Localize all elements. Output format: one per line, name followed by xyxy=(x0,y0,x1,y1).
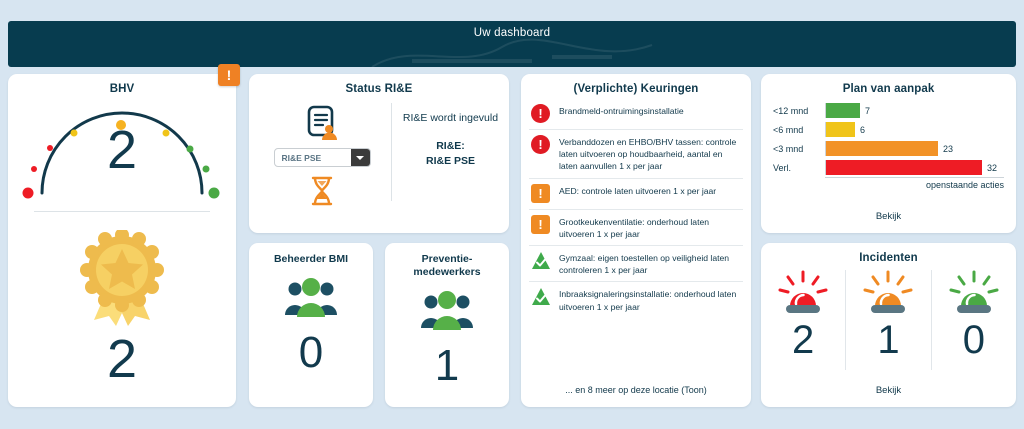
chart-bar-value: 32 xyxy=(987,163,997,173)
incidenten-bekijk-link[interactable]: Bekijk xyxy=(761,385,1016,396)
incident-count: 1 xyxy=(877,320,899,360)
bhv-gauge: 2 xyxy=(8,97,236,205)
document-person-icon xyxy=(302,103,342,143)
chart-bar xyxy=(826,103,860,118)
card-incidenten[interactable]: Incidenten 210 Bekijk xyxy=(761,243,1016,407)
people-group-icon xyxy=(283,277,339,319)
chart-bar-value: 7 xyxy=(865,106,870,116)
chart-bar-cell: 6 xyxy=(825,122,1004,137)
rie-detail-label: RI&E: xyxy=(402,139,499,154)
preventie-value: 1 xyxy=(385,344,509,388)
chart-bar xyxy=(826,122,855,137)
keuring-label: Grootkeukenventilatie: onderhoud laten u… xyxy=(559,215,743,240)
chart-bar-cell: 23 xyxy=(825,141,1004,156)
siren-orange-icon xyxy=(859,270,917,316)
chart-category-label: <12 mnd xyxy=(773,103,825,118)
card-keuringen[interactable]: (Verplichte) Keuringen !Brandmeld-ontrui… xyxy=(521,74,751,407)
alert-circle-icon: ! xyxy=(531,104,550,123)
chart-category-label: <3 mnd xyxy=(773,141,825,156)
card-incidenten-title: Incidenten xyxy=(761,243,1016,264)
keuring-row[interactable]: Gymzaal: eigen toestellen op veiligheid … xyxy=(529,245,743,281)
card-status-rie[interactable]: Status RI&E RI&E PSE xyxy=(249,74,509,233)
chart-xlabel: openstaande acties xyxy=(773,178,1004,190)
header-watermark-graphic xyxy=(352,37,672,67)
bhv-badge-value: 2 xyxy=(8,332,236,386)
card-beheerder-bmi[interactable]: Beheerder BMI 0 xyxy=(249,243,373,407)
keuring-row[interactable]: !Verbanddozen en EHBO/BHV tassen: contro… xyxy=(529,129,743,178)
card-keuringen-title: (Verplichte) Keuringen xyxy=(521,74,751,95)
card-bhv-title: BHV xyxy=(8,74,236,95)
incident-count: 0 xyxy=(963,320,985,360)
keuring-row[interactable]: !AED: controle laten uitvoeren 1 x per j… xyxy=(529,178,743,209)
keuringen-list: !Brandmeld-ontruimingsinstallatie!Verban… xyxy=(521,95,751,385)
dashboard-page: Uw dashboard BHV 2 xyxy=(0,0,1024,429)
preventie-people-icon xyxy=(385,290,509,332)
keuringen-footer-link[interactable]: ... en 8 meer op deze locatie (Toon) xyxy=(521,385,751,407)
incidenten-row: 210 xyxy=(761,270,1016,370)
bmi-value: 0 xyxy=(249,331,373,375)
keuring-status-icon xyxy=(531,287,551,307)
incident-column[interactable]: 2 xyxy=(761,270,845,370)
keuring-row[interactable]: !Brandmeld-ontruimingsinstallatie xyxy=(529,99,743,129)
plan-bar-chart: <12 mnd7<6 mnd6<3 mnd23Verl.32 openstaan… xyxy=(773,103,1004,190)
keuring-label: Gymzaal: eigen toestellen op veiligheid … xyxy=(559,251,743,276)
bmi-people-icon xyxy=(249,277,373,319)
bhv-medal xyxy=(8,230,236,326)
card-bmi-title: Beheerder BMI xyxy=(249,243,373,266)
plan-bekijk-link[interactable]: Bekijk xyxy=(761,211,1016,222)
card-preventiemedewerkers[interactable]: Preventie-medewerkers 1 xyxy=(385,243,509,407)
keuring-label: AED: controle laten uitvoeren 1 x per ja… xyxy=(559,184,716,197)
check-triangle-icon xyxy=(531,251,551,270)
keuring-label: Verbanddozen en EHBO/BHV tassen: control… xyxy=(559,135,743,173)
card-bhv[interactable]: BHV 2 xyxy=(8,74,236,407)
bhv-divider xyxy=(34,211,210,212)
siren-red-icon xyxy=(774,270,832,316)
rie-select-value: RI&E PSE xyxy=(275,149,351,166)
chart-bar-value: 6 xyxy=(860,125,865,135)
card-plan-van-aanpak[interactable]: Plan van aanpak <12 mnd7<6 mnd6<3 mnd23V… xyxy=(761,74,1016,233)
keuring-status-icon: ! xyxy=(531,104,551,124)
keuring-status-icon xyxy=(531,251,551,271)
card-preventie-title: Preventie-medewerkers xyxy=(385,243,509,279)
hourglass-icon xyxy=(307,175,337,207)
keuring-row[interactable]: Inbraaksignaleringsinstallatie: onderhou… xyxy=(529,281,743,317)
incident-column[interactable]: 1 xyxy=(845,270,930,370)
keuring-label: Brandmeld-ontruimingsinstallatie xyxy=(559,104,684,117)
award-medal-icon xyxy=(76,230,168,326)
keuring-status-icon: ! xyxy=(531,184,551,204)
rie-status-text: RI&E wordt ingevuld xyxy=(402,111,499,126)
keuring-label: Inbraaksignaleringsinstallatie: onderhou… xyxy=(559,287,743,312)
incident-count: 2 xyxy=(792,320,814,360)
chart-bar xyxy=(826,141,938,156)
chart-category-label: Verl. xyxy=(773,160,825,175)
rie-select[interactable]: RI&E PSE xyxy=(274,148,371,167)
card-plan-title: Plan van aanpak xyxy=(761,74,1016,95)
keuring-row[interactable]: !Grootkeukenventilatie: onderhoud laten … xyxy=(529,209,743,245)
chart-bar-value: 23 xyxy=(943,144,953,154)
alert-square-icon: ! xyxy=(531,215,550,234)
people-group-icon xyxy=(419,290,475,332)
keuring-status-icon: ! xyxy=(531,135,551,155)
bhv-gauge-value: 2 xyxy=(8,123,236,177)
keuring-status-icon: ! xyxy=(531,215,551,235)
alert-circle-icon: ! xyxy=(531,135,550,154)
alert-square-icon: ! xyxy=(531,184,550,203)
chart-category-label: <6 mnd xyxy=(773,122,825,137)
incident-column[interactable]: 0 xyxy=(931,270,1016,370)
chart-bar-cell: 32 xyxy=(825,160,1004,175)
rie-detail-value: RI&E PSE xyxy=(402,154,499,169)
page-title: Uw dashboard xyxy=(474,27,551,39)
app-header: Uw dashboard xyxy=(8,21,1016,67)
bhv-alert-badge-icon[interactable]: ! xyxy=(218,64,240,86)
check-triangle-icon xyxy=(531,287,551,306)
rie-separator xyxy=(391,103,392,201)
chart-bar-cell: 7 xyxy=(825,103,1004,118)
card-rie-title: Status RI&E xyxy=(249,74,509,95)
chevron-down-icon[interactable] xyxy=(351,149,370,166)
chart-bar xyxy=(826,160,982,175)
siren-green-icon xyxy=(945,270,1003,316)
